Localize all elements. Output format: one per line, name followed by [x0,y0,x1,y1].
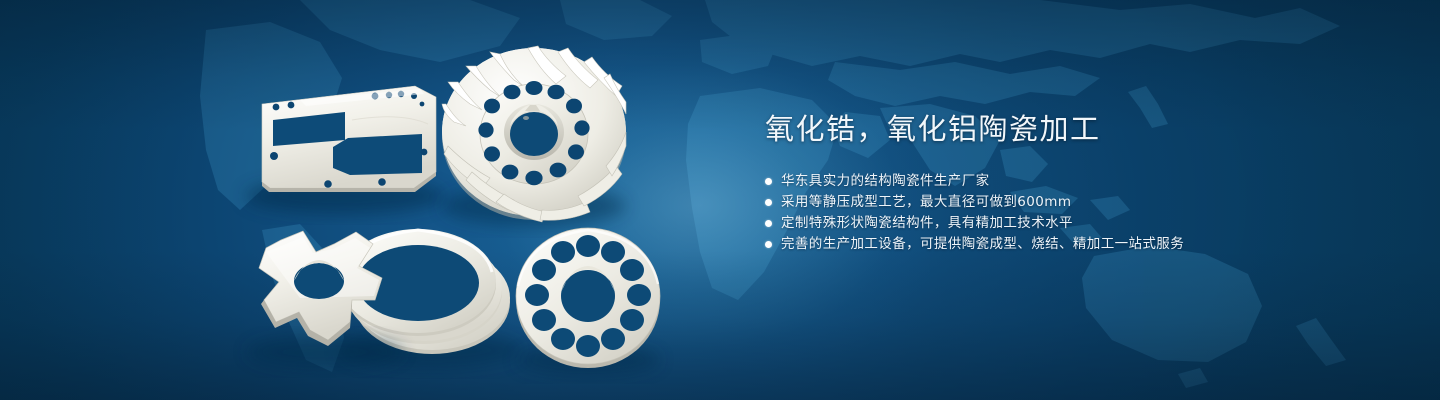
list-item: 华东具实力的结构陶瓷件生产厂家 [765,171,1385,192]
ceramic-hole-disc [516,228,660,375]
bullet-dot-icon [765,178,772,185]
banner-headline: 氧化锆，氧化铝陶瓷加工 [765,110,1385,148]
hero-banner: 氧化锆，氧化铝陶瓷加工 华东具实力的结构陶瓷件生产厂家 采用等静压成型工艺，最大… [0,0,1440,400]
list-item: 定制特殊形状陶瓷结构件，具有精加工技术水平 [765,213,1385,234]
bullet-dot-icon [765,199,772,206]
ceramic-mounting-plate [245,86,445,214]
ceramic-products-image [0,0,760,400]
feature-text: 定制特殊形状陶瓷结构件，具有精加工技术水平 [781,213,1073,234]
feature-text: 完善的生产加工设备，可提供陶瓷成型、烧结、精加工一站式服务 [781,234,1184,255]
bullet-dot-icon [765,220,772,227]
feature-text: 采用等静压成型工艺，最大直径可做到600mm [781,192,1071,213]
banner-text-column: 氧化锆，氧化铝陶瓷加工 华东具实力的结构陶瓷件生产厂家 采用等静压成型工艺，最大… [765,110,1385,255]
list-item: 采用等静压成型工艺，最大直径可做到600mm [765,192,1385,213]
ceramic-impeller [442,46,626,226]
list-item: 完善的生产加工设备，可提供陶瓷成型、烧结、精加工一站式服务 [765,234,1385,255]
bullet-dot-icon [765,241,772,248]
banner-feature-list: 华东具实力的结构陶瓷件生产厂家 采用等静压成型工艺，最大直径可做到600mm 定… [765,171,1385,255]
feature-text: 华东具实力的结构陶瓷件生产厂家 [781,171,990,192]
